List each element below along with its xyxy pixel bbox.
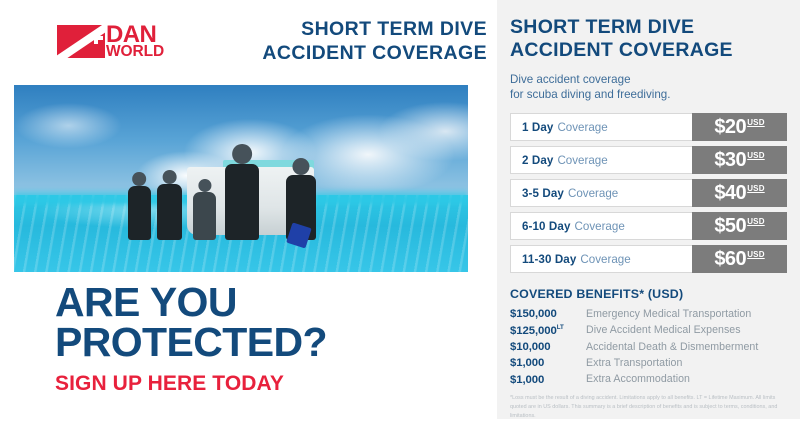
right-panel: SHORT TERM DIVE ACCIDENT COVERAGE Dive a… xyxy=(497,0,800,419)
photo-diver xyxy=(157,184,182,240)
price-row-amount: $60 USD xyxy=(692,245,787,273)
benefit-description: Extra Accommodation xyxy=(586,373,690,385)
benefits-title: COVERED BENEFITS* (USD) xyxy=(510,287,787,301)
left-panel: DAN WORLD SHORT TERM DIVE ACCIDENT COVER… xyxy=(0,0,497,419)
benefit-amount: $1,000 xyxy=(510,373,586,386)
benefit-amount-value: $1,000 xyxy=(510,357,544,369)
logo-wordmark: DAN WORLD xyxy=(106,24,164,59)
right-subtitle-line1: Dive accident coverage xyxy=(510,72,787,87)
benefit-amount: $125,000LT xyxy=(510,324,586,337)
benefit-amount-value: $125,000 xyxy=(510,324,557,336)
sign-up-link[interactable]: SIGN UP HERE TODAY xyxy=(55,372,475,396)
pricing-table: 1 Day Coverage $20 USD 2 Day Coverage $3… xyxy=(510,113,787,273)
price-row-word: Coverage xyxy=(557,154,607,167)
price-row-word: Coverage xyxy=(568,187,618,200)
right-subtitle-line2: for scuba diving and freediving. xyxy=(510,87,787,102)
cta-line-1: ARE YOU xyxy=(55,283,475,323)
benefit-amount: $10,000 xyxy=(510,340,586,353)
price-row-label: 2 Day Coverage xyxy=(510,146,692,174)
benefit-description: Accidental Death & Dismemberment xyxy=(586,341,758,353)
price-row[interactable]: 2 Day Coverage $30 USD xyxy=(510,146,787,174)
photo-diver xyxy=(225,164,259,241)
price-currency: USD xyxy=(747,217,765,226)
benefit-amount: $1,000 xyxy=(510,356,586,369)
price-row-word: Coverage xyxy=(580,253,630,266)
price-row-amount: $50 USD xyxy=(692,212,787,240)
price-currency: USD xyxy=(747,250,765,259)
price-row[interactable]: 6-10 Day Coverage $50 USD xyxy=(510,212,787,240)
price-row-days: 6-10 Day xyxy=(522,220,571,233)
promo-banner: DAN WORLD SHORT TERM DIVE ACCIDENT COVER… xyxy=(0,0,800,419)
price-row-label: 6-10 Day Coverage xyxy=(510,212,692,240)
call-to-action: ARE YOU PROTECTED? SIGN UP HERE TODAY xyxy=(55,283,475,396)
price-value: $60 xyxy=(714,249,746,269)
price-row[interactable]: 3-5 Day Coverage $40 USD xyxy=(510,179,787,207)
right-headline-line2: ACCIDENT COVERAGE xyxy=(510,39,787,62)
benefit-row: $1,000 Extra Transportation xyxy=(510,356,787,369)
benefit-amount: $150,000 xyxy=(510,307,586,320)
benefit-description: Emergency Medical Transportation xyxy=(586,308,751,320)
price-value: $30 xyxy=(714,150,746,170)
price-value: $20 xyxy=(714,117,746,137)
footnote-disclaimer: *Loss must be the result of a diving acc… xyxy=(510,394,778,420)
benefit-amount-value: $1,000 xyxy=(510,373,544,385)
price-row-amount: $30 USD xyxy=(692,146,787,174)
benefit-superscript: LT xyxy=(557,324,564,331)
photo-diver xyxy=(128,186,152,240)
benefit-amount-value: $10,000 xyxy=(510,341,550,353)
left-headline-line2: ACCIDENT COVERAGE xyxy=(262,42,487,66)
price-row-word: Coverage xyxy=(557,121,607,134)
price-row-days: 2 Day xyxy=(522,154,553,167)
left-headline-line1: SHORT TERM DIVE xyxy=(262,18,487,42)
right-headline-line1: SHORT TERM DIVE xyxy=(510,16,787,39)
benefit-description: Dive Accident Medical Expenses xyxy=(586,324,741,336)
left-headline: SHORT TERM DIVE ACCIDENT COVERAGE xyxy=(262,18,487,66)
price-currency: USD xyxy=(747,184,765,193)
price-row-days: 3-5 Day xyxy=(522,187,564,200)
price-value: $40 xyxy=(714,183,746,203)
benefit-description: Extra Transportation xyxy=(586,357,682,369)
photo-crew-member xyxy=(193,192,216,241)
price-row[interactable]: 11-30 Day Coverage $60 USD xyxy=(510,245,787,273)
price-row-days: 1 Day xyxy=(522,121,553,134)
price-row-amount: $20 USD xyxy=(692,113,787,141)
benefit-row: $150,000 Emergency Medical Transportatio… xyxy=(510,307,787,320)
benefit-row: $125,000LT Dive Accident Medical Expense… xyxy=(510,324,787,337)
benefits-list: $150,000 Emergency Medical Transportatio… xyxy=(510,307,787,385)
price-row[interactable]: 1 Day Coverage $20 USD xyxy=(510,113,787,141)
price-value: $50 xyxy=(714,216,746,236)
price-currency: USD xyxy=(747,118,765,127)
hero-photo-divers xyxy=(14,85,468,272)
benefit-row: $1,000 Extra Accommodation xyxy=(510,373,787,386)
price-row-label: 11-30 Day Coverage xyxy=(510,245,692,273)
cta-line-2: PROTECTED? xyxy=(55,323,475,363)
logo-world-text: WORLD xyxy=(106,45,164,59)
right-subtitle: Dive accident coverage for scuba diving … xyxy=(510,72,787,103)
price-currency: USD xyxy=(747,151,765,160)
price-row-word: Coverage xyxy=(575,220,625,233)
right-headline: SHORT TERM DIVE ACCIDENT COVERAGE xyxy=(510,16,787,63)
dan-world-logo[interactable]: DAN WORLD xyxy=(57,24,164,59)
benefit-amount-value: $150,000 xyxy=(510,308,557,320)
price-row-days: 11-30 Day xyxy=(522,253,576,266)
price-row-label: 3-5 Day Coverage xyxy=(510,179,692,207)
price-row-label: 1 Day Coverage xyxy=(510,113,692,141)
price-row-amount: $40 USD xyxy=(692,179,787,207)
dive-flag-icon xyxy=(57,25,105,58)
benefit-row: $10,000 Accidental Death & Dismemberment xyxy=(510,340,787,353)
